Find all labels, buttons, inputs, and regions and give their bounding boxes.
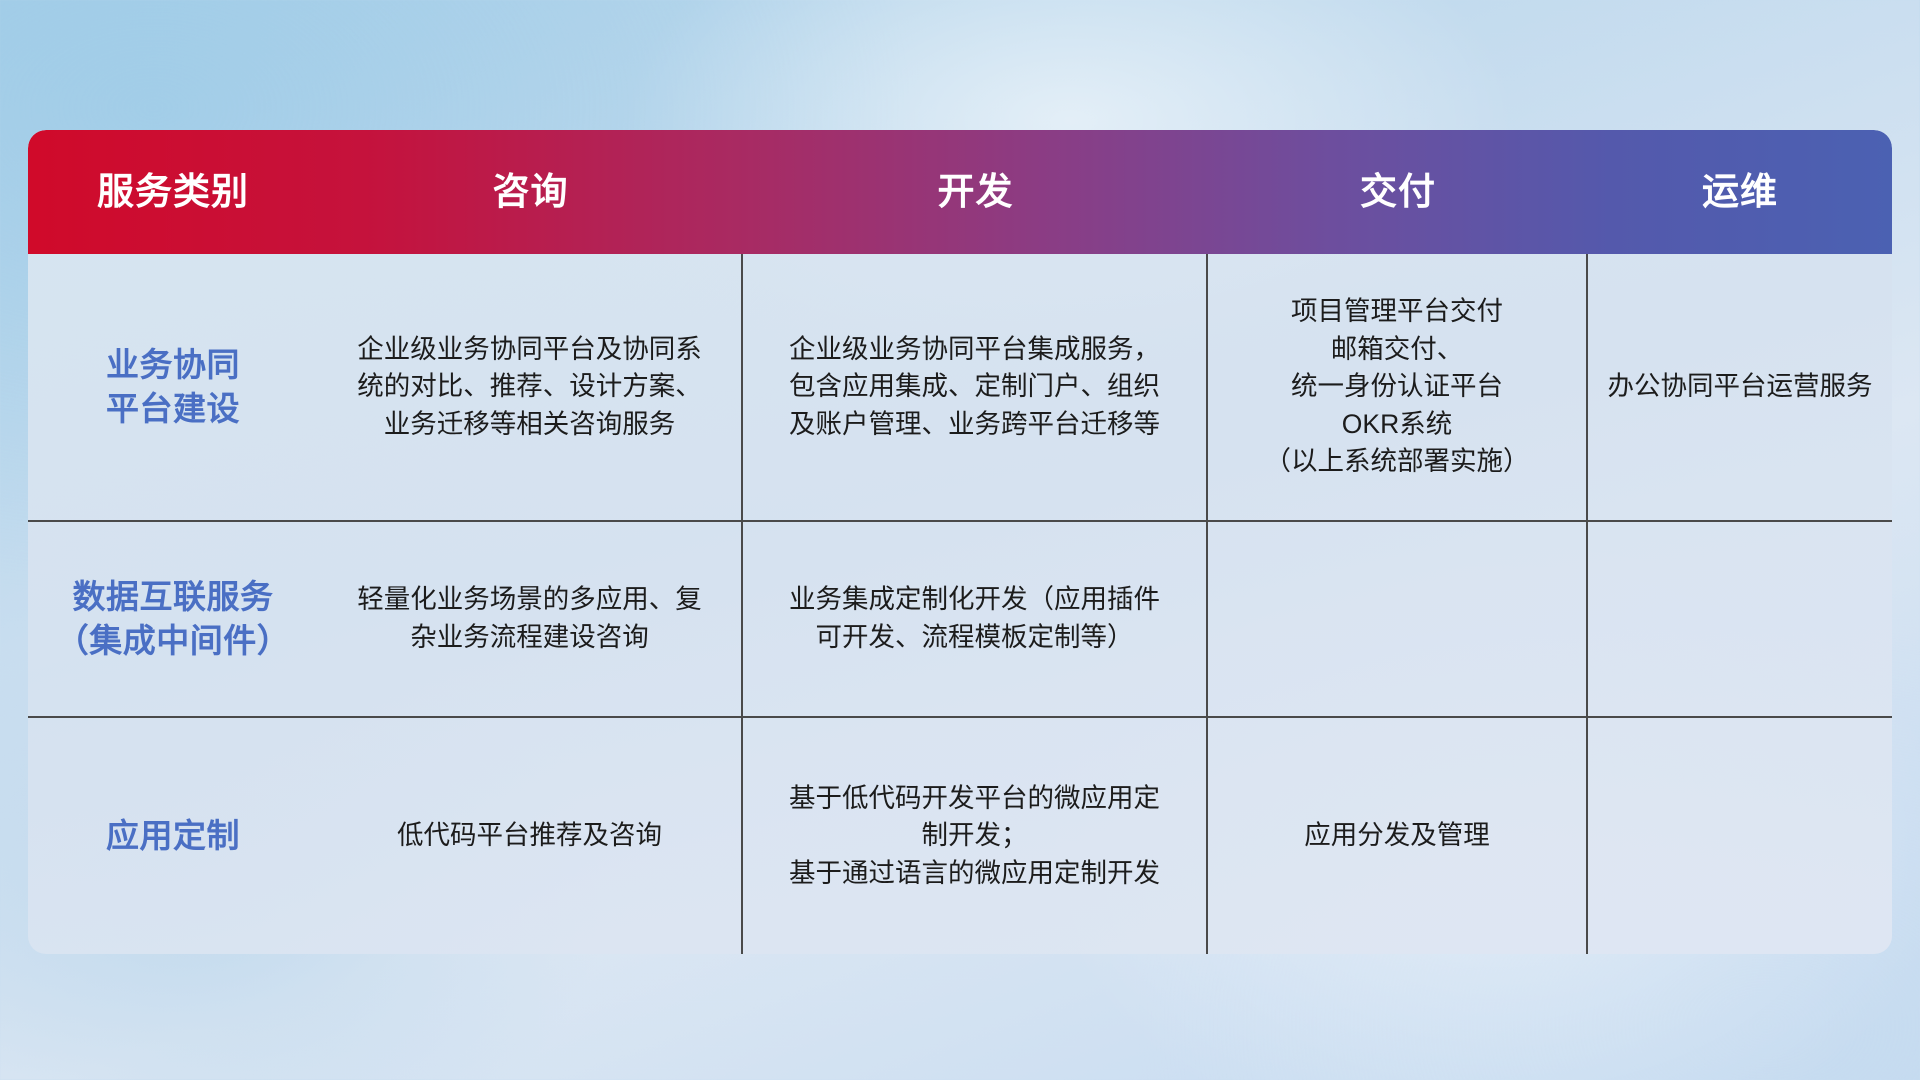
row-category-label: 应用定制 bbox=[28, 718, 318, 954]
column-header-delivery: 交付 bbox=[1208, 172, 1588, 213]
column-header-consulting: 咨询 bbox=[318, 172, 743, 213]
cell-operations: 办公协同平台运营服务 bbox=[1588, 254, 1892, 520]
table-header-row: 服务类别 咨询 开发 交付 运维 bbox=[28, 130, 1892, 254]
cell-development: 业务集成定制化开发（应用插件 可开发、流程模板定制等） bbox=[743, 522, 1208, 716]
service-matrix-table: 服务类别 咨询 开发 交付 运维 业务协同 平台建设 企业级业务协同平台及协同系… bbox=[28, 130, 1892, 954]
cell-operations bbox=[1588, 522, 1892, 716]
cell-consulting: 轻量化业务场景的多应用、复 杂业务流程建设咨询 bbox=[318, 522, 743, 716]
table-row: 应用定制 低代码平台推荐及咨询 基于低代码开发平台的微应用定 制开发； 基于通过… bbox=[28, 718, 1892, 954]
cell-delivery: 应用分发及管理 bbox=[1208, 718, 1588, 954]
column-header-operations: 运维 bbox=[1588, 172, 1892, 213]
cell-delivery bbox=[1208, 522, 1588, 716]
cell-operations bbox=[1588, 718, 1892, 954]
row-category-label: 数据互联服务 （集成中间件） bbox=[28, 522, 318, 716]
table-row: 业务协同 平台建设 企业级业务协同平台及协同系 统的对比、推荐、设计方案、 业务… bbox=[28, 254, 1892, 522]
row-category-label: 业务协同 平台建设 bbox=[28, 254, 318, 520]
cell-development: 企业级业务协同平台集成服务， 包含应用集成、定制门户、组织 及账户管理、业务跨平… bbox=[743, 254, 1208, 520]
column-header-development: 开发 bbox=[743, 172, 1208, 213]
cell-delivery: 项目管理平台交付 邮箱交付、 统一身份认证平台 OKR系统 （以上系统部署实施） bbox=[1208, 254, 1588, 520]
cell-consulting: 企业级业务协同平台及协同系 统的对比、推荐、设计方案、 业务迁移等相关咨询服务 bbox=[318, 254, 743, 520]
table-row: 数据互联服务 （集成中间件） 轻量化业务场景的多应用、复 杂业务流程建设咨询 业… bbox=[28, 522, 1892, 718]
column-header-category: 服务类别 bbox=[28, 172, 318, 213]
cell-consulting: 低代码平台推荐及咨询 bbox=[318, 718, 743, 954]
table-body: 业务协同 平台建设 企业级业务协同平台及协同系 统的对比、推荐、设计方案、 业务… bbox=[28, 254, 1892, 954]
cell-development: 基于低代码开发平台的微应用定 制开发； 基于通过语言的微应用定制开发 bbox=[743, 718, 1208, 954]
